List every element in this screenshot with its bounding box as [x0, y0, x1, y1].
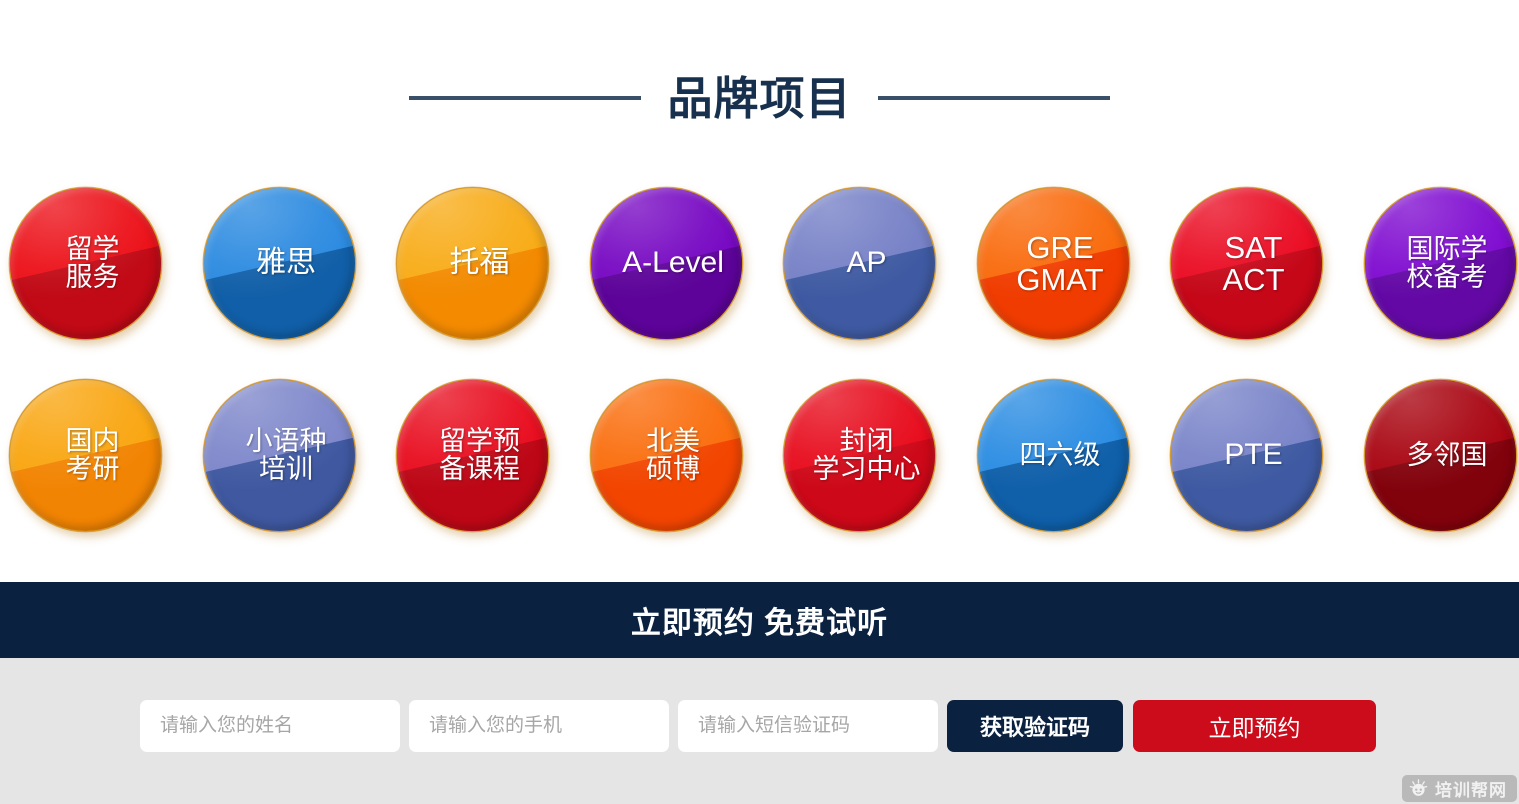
sun-face-icon — [1409, 779, 1428, 798]
program-bubble[interactable]: 北美硕博 — [590, 379, 743, 532]
program-bubble-label: 四六级 — [1006, 442, 1101, 470]
program-bubble-label: 留学服务 — [52, 236, 120, 291]
program-bubble[interactable]: AP — [783, 187, 936, 340]
program-bubble-label: 北美硕博 — [632, 428, 700, 483]
program-bubble[interactable]: 留学预备课程 — [396, 379, 549, 532]
brand-programs-page: 品牌项目 留学服务雅思托福A-LevelAPGREGMATSATACT国际学校备… — [0, 0, 1519, 804]
site-watermark: 培训帮网 — [1402, 775, 1517, 802]
program-bubble[interactable]: 封闭学习中心 — [783, 379, 936, 532]
program-bubble-label: PTE — [1210, 440, 1282, 471]
program-bubble[interactable]: 小语种培训 — [203, 379, 356, 532]
program-bubble[interactable]: A-Level — [590, 187, 743, 340]
sms-code-input[interactable] — [678, 700, 938, 752]
page-title: 品牌项目 — [667, 76, 851, 121]
program-bubble-label: GREGMAT — [1002, 232, 1103, 295]
program-bubble[interactable]: 多邻国 — [1364, 379, 1517, 532]
program-bubble-label: 留学预备课程 — [425, 428, 520, 483]
program-bubble-label: 国内考研 — [52, 428, 120, 483]
title-rule-right — [878, 96, 1110, 100]
program-bubble[interactable]: PTE — [1170, 379, 1323, 532]
program-bubble-label: 封闭学习中心 — [799, 428, 921, 483]
program-bubble[interactable]: SATACT — [1170, 187, 1323, 340]
booking-form-strip: 获取验证码 立即预约 — [0, 658, 1519, 804]
section-title-row: 品牌项目 — [0, 62, 1519, 134]
program-grid: 留学服务雅思托福A-LevelAPGREGMATSATACT国际学校备考 国内考… — [0, 186, 1519, 570]
program-bubble[interactable]: 四六级 — [977, 379, 1130, 532]
program-bubble-label: 国际学校备考 — [1393, 236, 1488, 291]
booking-form: 获取验证码 立即预约 — [140, 700, 1376, 752]
name-input[interactable] — [140, 700, 400, 752]
program-bubble-label: A-Level — [608, 248, 724, 279]
program-bubble[interactable]: 国际学校备考 — [1364, 187, 1517, 340]
cta-banner: 立即预约 免费试听 — [0, 582, 1519, 658]
program-bubble[interactable]: 托福 — [396, 187, 549, 340]
program-row-2: 国内考研小语种培训留学预备课程北美硕博封闭学习中心四六级PTE多邻国 — [0, 378, 1519, 570]
program-bubble[interactable]: 留学服务 — [9, 187, 162, 340]
program-bubble-label: 托福 — [436, 248, 510, 279]
get-verification-code-button[interactable]: 获取验证码 — [947, 700, 1123, 752]
watermark-label: 培训帮网 — [1435, 776, 1507, 801]
program-bubble[interactable]: 雅思 — [203, 187, 356, 340]
program-bubble-label: 多邻国 — [1393, 442, 1488, 470]
title-rule-left — [409, 96, 641, 100]
cta-headline: 立即预约 免费试听 — [631, 598, 888, 642]
phone-input[interactable] — [409, 700, 669, 752]
program-bubble-label: AP — [832, 248, 886, 279]
program-row-1: 留学服务雅思托福A-LevelAPGREGMATSATACT国际学校备考 — [0, 186, 1519, 378]
submit-booking-button[interactable]: 立即预约 — [1133, 700, 1376, 752]
program-bubble[interactable]: GREGMAT — [977, 187, 1130, 340]
program-bubble-label: 雅思 — [242, 248, 316, 279]
program-bubble-label: 小语种培训 — [232, 428, 327, 483]
program-bubble[interactable]: 国内考研 — [9, 379, 162, 532]
program-bubble-label: SATACT — [1209, 232, 1285, 295]
